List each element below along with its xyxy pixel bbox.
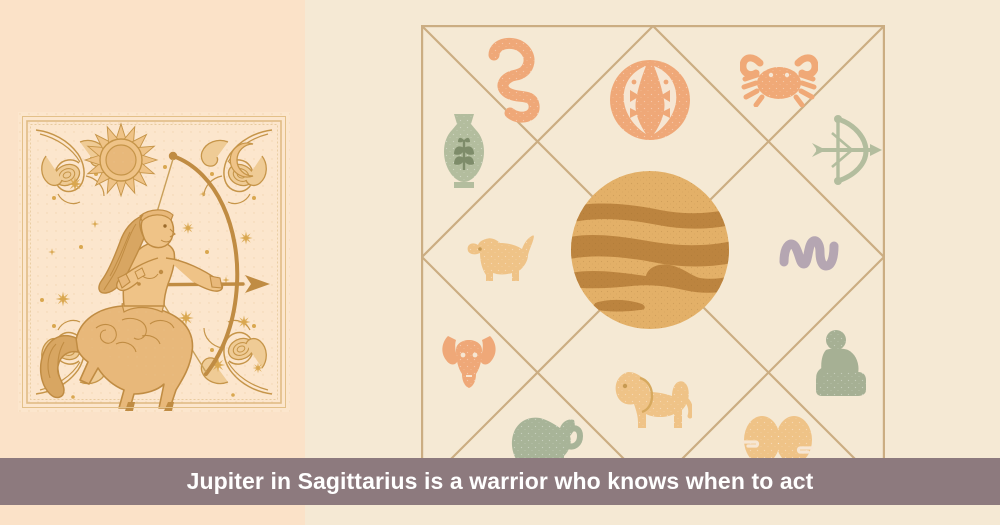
sagittarius-bow-symbol: [812, 113, 884, 185]
taurus-bull-head-symbol: [438, 330, 500, 392]
poster-canvas: Jupiter in Sagittarius is a warrior who …: [0, 0, 1000, 525]
aquarius-wave-symbol: [778, 230, 846, 272]
caption-text: Jupiter in Sagittarius is a warrior who …: [187, 468, 814, 495]
footer-strip: [0, 505, 1000, 525]
leo-lion-symbol: [610, 358, 692, 430]
footer-right-fill: [305, 505, 1000, 525]
virgo-sage-symbol: [812, 330, 868, 398]
footer-left-fill: [0, 505, 305, 525]
cancer-crab-symbol: [740, 45, 818, 107]
taurus-ox-symbol: [462, 227, 536, 283]
sagittarius-tarot-card: [18, 112, 290, 412]
aquarius-vase-symbol: [438, 112, 490, 190]
snake-symbol: [480, 35, 544, 123]
caption-bar: Jupiter in Sagittarius is a warrior who …: [0, 458, 1000, 505]
card-border: [22, 116, 286, 408]
jupiter-planet: [570, 170, 730, 330]
pisces-fish-symbol: [608, 58, 692, 142]
